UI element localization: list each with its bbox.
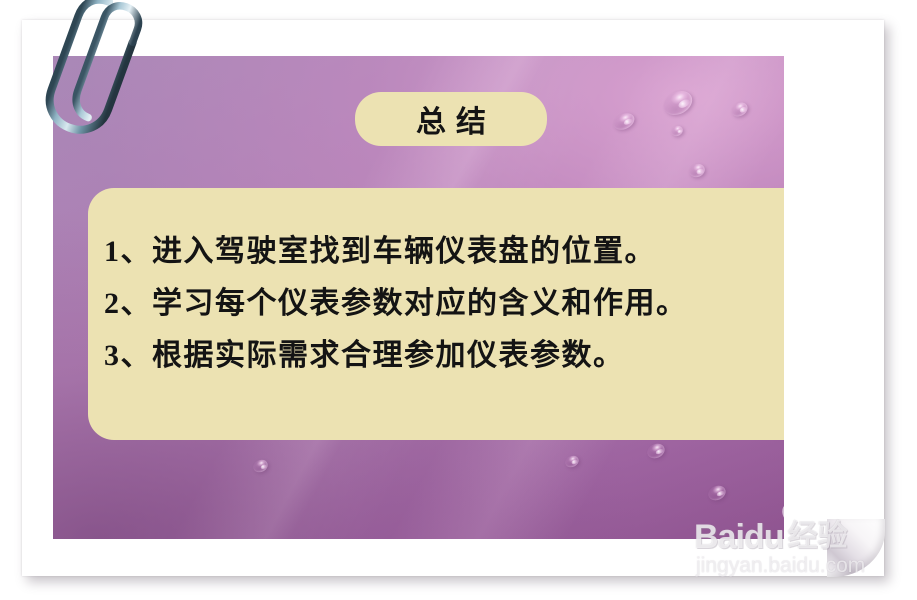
water-droplet: [660, 86, 697, 120]
body-line-1: 1、进入驾驶室找到车辆仪表盘的位置。: [88, 226, 784, 278]
screenshot-root: 总结 1、进入驾驶室找到车辆仪表盘的位置。 2、学习每个仪表参数对应的含义和作用…: [0, 0, 917, 600]
water-droplet: [251, 457, 270, 474]
slide-title-panel: 总结: [355, 92, 547, 146]
page-curl-corner: [827, 519, 885, 577]
water-droplet: [563, 454, 580, 470]
page-title: 总结: [406, 97, 496, 141]
body-line-3: 3、根据实际需求合理参加仪表参数。: [88, 330, 784, 382]
water-droplet: [706, 483, 728, 503]
body-line-2: 2、学习每个仪表参数对应的含义和作用。: [88, 278, 784, 330]
water-droplet: [687, 162, 706, 180]
water-droplet: [669, 124, 684, 138]
water-droplet: [645, 441, 667, 461]
water-droplet: [729, 100, 750, 120]
slide-image: 总结 1、进入驾驶室找到车辆仪表盘的位置。 2、学习每个仪表参数对应的含义和作用…: [53, 56, 784, 539]
slide-body-panel: 1、进入驾驶室找到车辆仪表盘的位置。 2、学习每个仪表参数对应的含义和作用。 3…: [88, 188, 784, 440]
water-droplet: [611, 110, 637, 133]
